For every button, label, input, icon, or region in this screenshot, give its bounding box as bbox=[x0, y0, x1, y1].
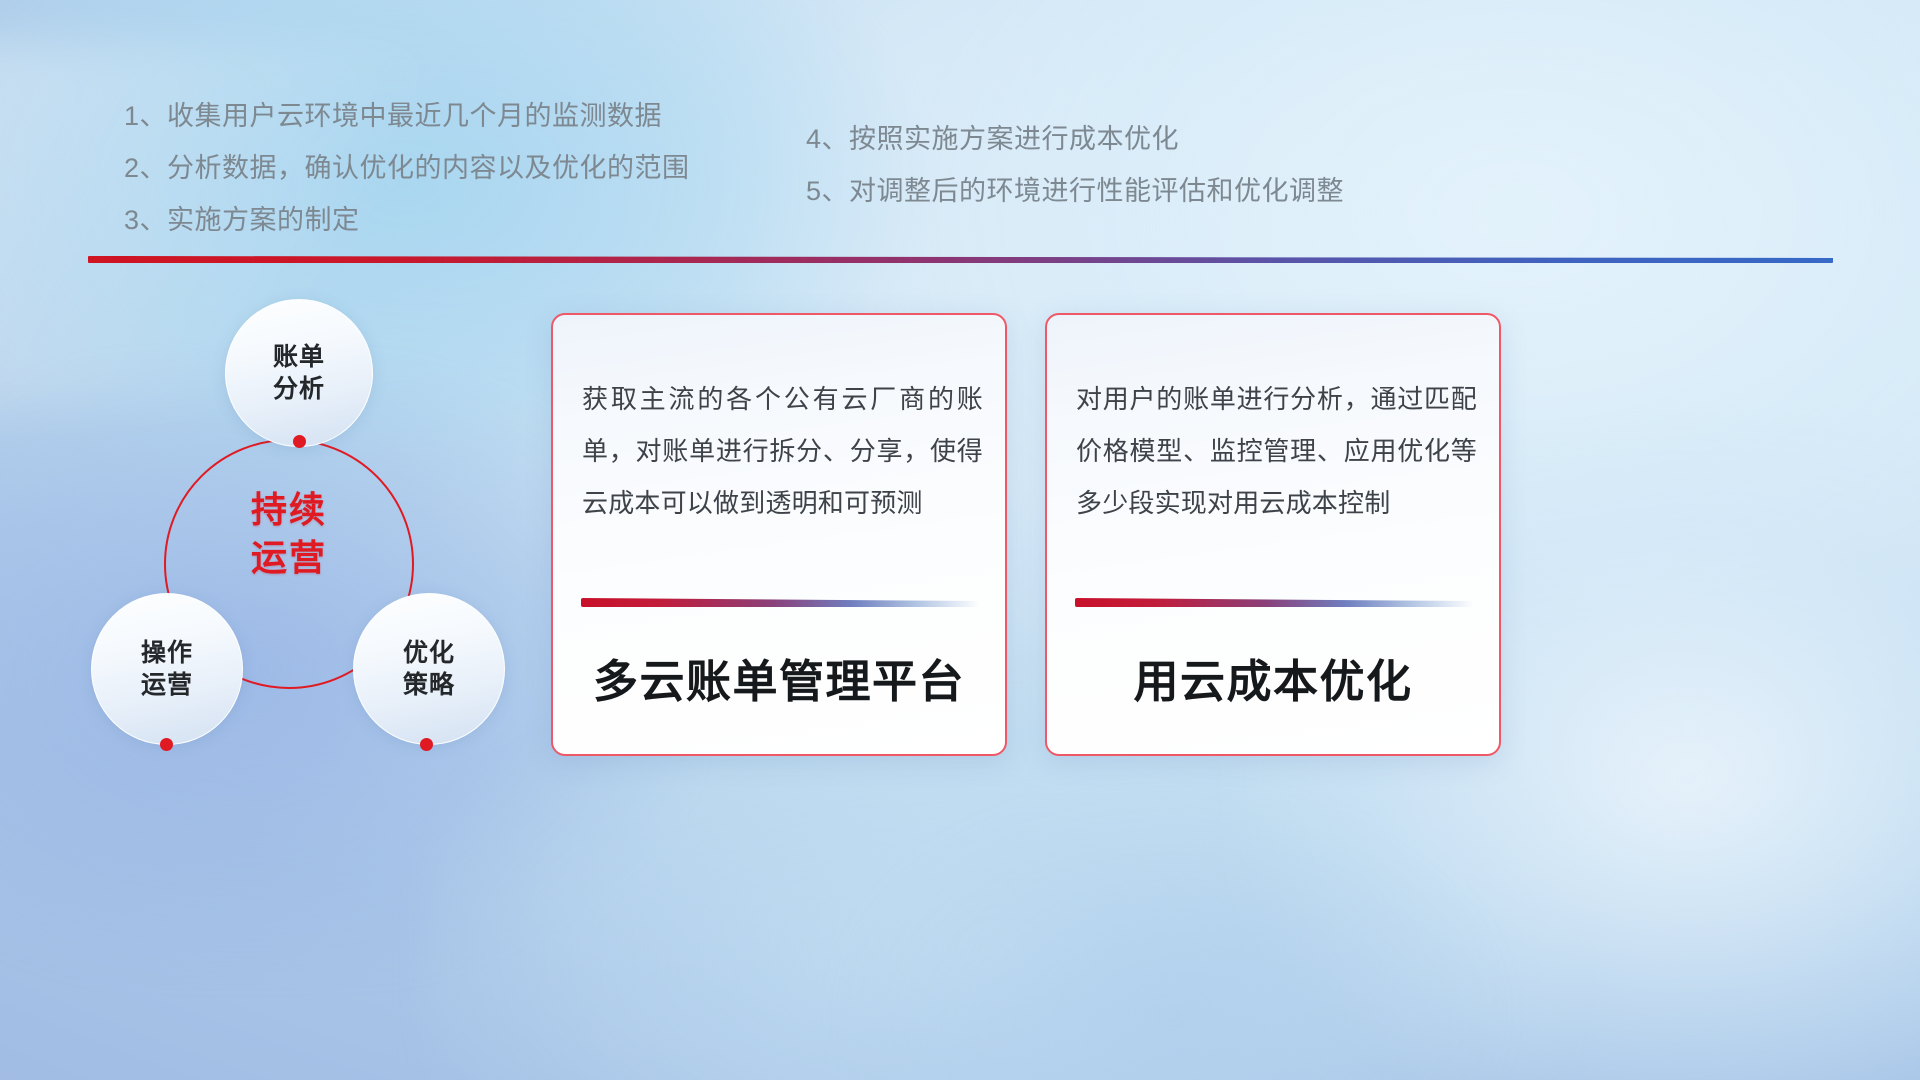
cycle-center-label-line2: 运营 bbox=[174, 534, 404, 582]
cycle-node-billing-analysis[interactable]: 账单 分析 bbox=[225, 299, 373, 447]
feature-card-title: 多云账单管理平台 bbox=[553, 645, 1005, 710]
steps-list-right: 4、按照实施方案进行成本优化 5、对调整后的环境进行性能评估和优化调整 bbox=[806, 126, 1344, 205]
step-item-5: 5、对调整后的环境进行性能评估和优化调整 bbox=[806, 178, 1344, 205]
cycle-connector-dot-right bbox=[420, 738, 433, 751]
cycle-connector-dot-top bbox=[293, 435, 306, 448]
section-divider-rule bbox=[88, 256, 1833, 263]
cycle-diagram: 持续 运营 账单 分析 操作 运营 优化 策略 bbox=[88, 290, 538, 770]
cycle-node-billing-analysis-label: 账单 分析 bbox=[273, 341, 325, 405]
cycle-center-label-line1: 持续 bbox=[174, 486, 404, 534]
cycle-node-optimization-strategy[interactable]: 优化 策略 bbox=[353, 593, 505, 745]
feature-card-billing-platform[interactable]: 获取主流的各个公有云厂商的账单，对账单进行拆分、分享，使得云成本可以做到透明和可… bbox=[551, 313, 1007, 756]
step-item-3: 3、实施方案的制定 bbox=[124, 207, 690, 234]
feature-card-title: 用云成本优化 bbox=[1047, 645, 1499, 710]
bubble-line-2: 运营 bbox=[141, 669, 193, 701]
step-item-2: 2、分析数据，确认优化的内容以及优化的范围 bbox=[124, 155, 690, 182]
bubble-line-1: 账单 bbox=[273, 341, 325, 373]
cycle-connector-dot-left bbox=[160, 738, 173, 751]
feature-card-body: 对用户的账单进行分析，通过匹配价格模型、监控管理、应用优化等多少段实现对用云成本… bbox=[1076, 373, 1477, 529]
steps-list-left: 1、收集用户云环境中最近几个月的监测数据 2、分析数据，确认优化的内容以及优化的… bbox=[124, 103, 690, 234]
step-item-4: 4、按照实施方案进行成本优化 bbox=[806, 126, 1344, 153]
bubble-line-1: 操作 bbox=[141, 637, 193, 669]
cycle-center-label: 持续 运营 bbox=[174, 486, 404, 581]
feature-card-divider bbox=[1075, 598, 1473, 607]
feature-card-body: 获取主流的各个公有云厂商的账单，对账单进行拆分、分享，使得云成本可以做到透明和可… bbox=[582, 373, 983, 529]
bubble-line-2: 策略 bbox=[403, 669, 455, 701]
step-item-1: 1、收集用户云环境中最近几个月的监测数据 bbox=[124, 103, 690, 130]
feature-card-divider bbox=[581, 598, 979, 607]
cycle-node-operations[interactable]: 操作 运营 bbox=[91, 593, 243, 745]
cycle-node-optimization-strategy-label: 优化 策略 bbox=[403, 637, 455, 701]
bubble-line-1: 优化 bbox=[403, 637, 455, 669]
feature-card-cost-optimization[interactable]: 对用户的账单进行分析，通过匹配价格模型、监控管理、应用优化等多少段实现对用云成本… bbox=[1045, 313, 1501, 756]
bubble-line-2: 分析 bbox=[273, 373, 325, 405]
cycle-node-operations-label: 操作 运营 bbox=[141, 637, 193, 701]
